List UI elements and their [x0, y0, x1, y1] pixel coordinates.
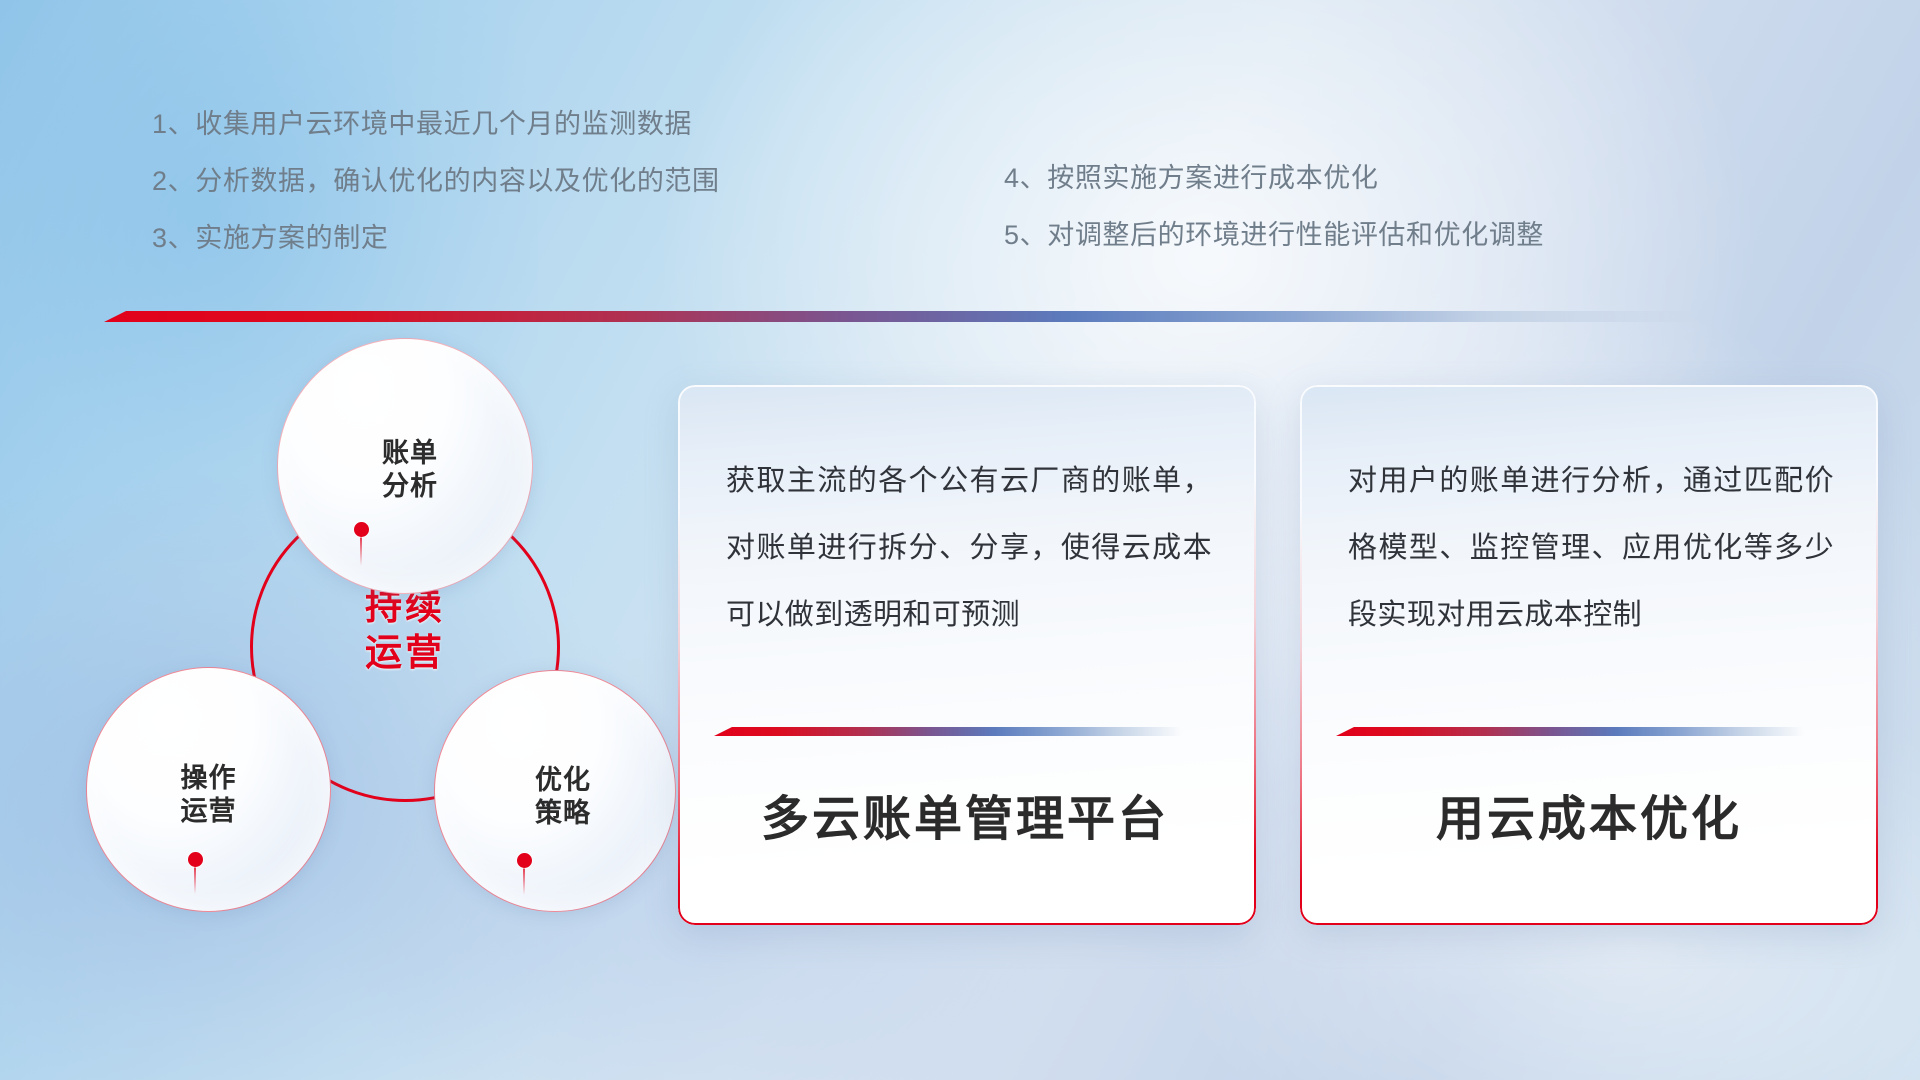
header-list-right: 4、按照实施方案进行成本优化 5、对调整后的环境进行性能评估和优化调整 — [1004, 150, 1544, 264]
card-title: 用云成本优化 — [1300, 779, 1878, 849]
node-tick-icon — [360, 534, 362, 566]
header-list-item: 4、按照实施方案进行成本优化 — [1004, 150, 1544, 207]
diagram-center-label: 持续 运营 — [250, 584, 560, 677]
node-tick-icon — [194, 864, 196, 894]
diagram-node-label-line2: 分析 — [382, 470, 438, 503]
section-divider — [104, 311, 1712, 322]
header-list-item: 2、分析数据，确认优化的内容以及优化的范围 — [152, 153, 720, 210]
card-body-text: 获取主流的各个公有云厂商的账单，对账单进行拆分、分享，使得云成本可以做到透明和可… — [726, 448, 1212, 649]
diagram-node-label-line2: 运营 — [181, 795, 237, 828]
feature-card-cloud-cost-optimization[interactable]: 对用户的账单进行分析，通过匹配价格模型、监控管理、应用优化等多少段实现对用云成本… — [1300, 385, 1878, 925]
feature-card-multi-cloud-billing-platform[interactable]: 获取主流的各个公有云厂商的账单，对账单进行拆分、分享，使得云成本可以做到透明和可… — [678, 385, 1256, 925]
card-divider — [714, 727, 1182, 736]
header-list-item: 5、对调整后的环境进行性能评估和优化调整 — [1004, 207, 1544, 264]
diagram-node-label-line1: 账单 — [382, 437, 438, 470]
node-dot-icon — [354, 522, 369, 537]
card-divider — [1336, 727, 1804, 736]
diagram-node-label-line1: 优化 — [535, 764, 591, 797]
diagram-node-label-line2: 策略 — [535, 797, 591, 830]
diagram-center-label-line2: 运营 — [250, 630, 560, 676]
diagram-node-label: 账单 分析 — [382, 437, 438, 503]
card-title: 多云账单管理平台 — [678, 779, 1254, 849]
diagram-node-label: 操作 运营 — [181, 762, 237, 828]
header-list-left: 1、收集用户云环境中最近几个月的监测数据 2、分析数据，确认优化的内容以及优化的… — [152, 96, 720, 267]
header-list-item: 3、实施方案的制定 — [152, 210, 720, 267]
node-dot-icon — [188, 852, 203, 867]
header-list-item: 1、收集用户云环境中最近几个月的监测数据 — [152, 96, 720, 153]
node-tick-icon — [523, 865, 525, 895]
diagram-node-label-line1: 操作 — [181, 762, 237, 795]
card-body-text: 对用户的账单进行分析，通过匹配价格模型、监控管理、应用优化等多少段实现对用云成本… — [1348, 448, 1834, 649]
node-dot-icon — [517, 853, 532, 868]
diagram-node-bill-analysis[interactable]: 账单 分析 — [277, 338, 533, 594]
continuous-operation-diagram: 持续 运营 账单 分析 操作 运营 优化 策略 — [96, 352, 656, 952]
diagram-node-operation-delivery[interactable]: 操作 运营 — [86, 667, 331, 912]
diagram-node-label: 优化 策略 — [535, 764, 591, 830]
diagram-node-optimize-strategy[interactable]: 优化 策略 — [434, 670, 676, 912]
